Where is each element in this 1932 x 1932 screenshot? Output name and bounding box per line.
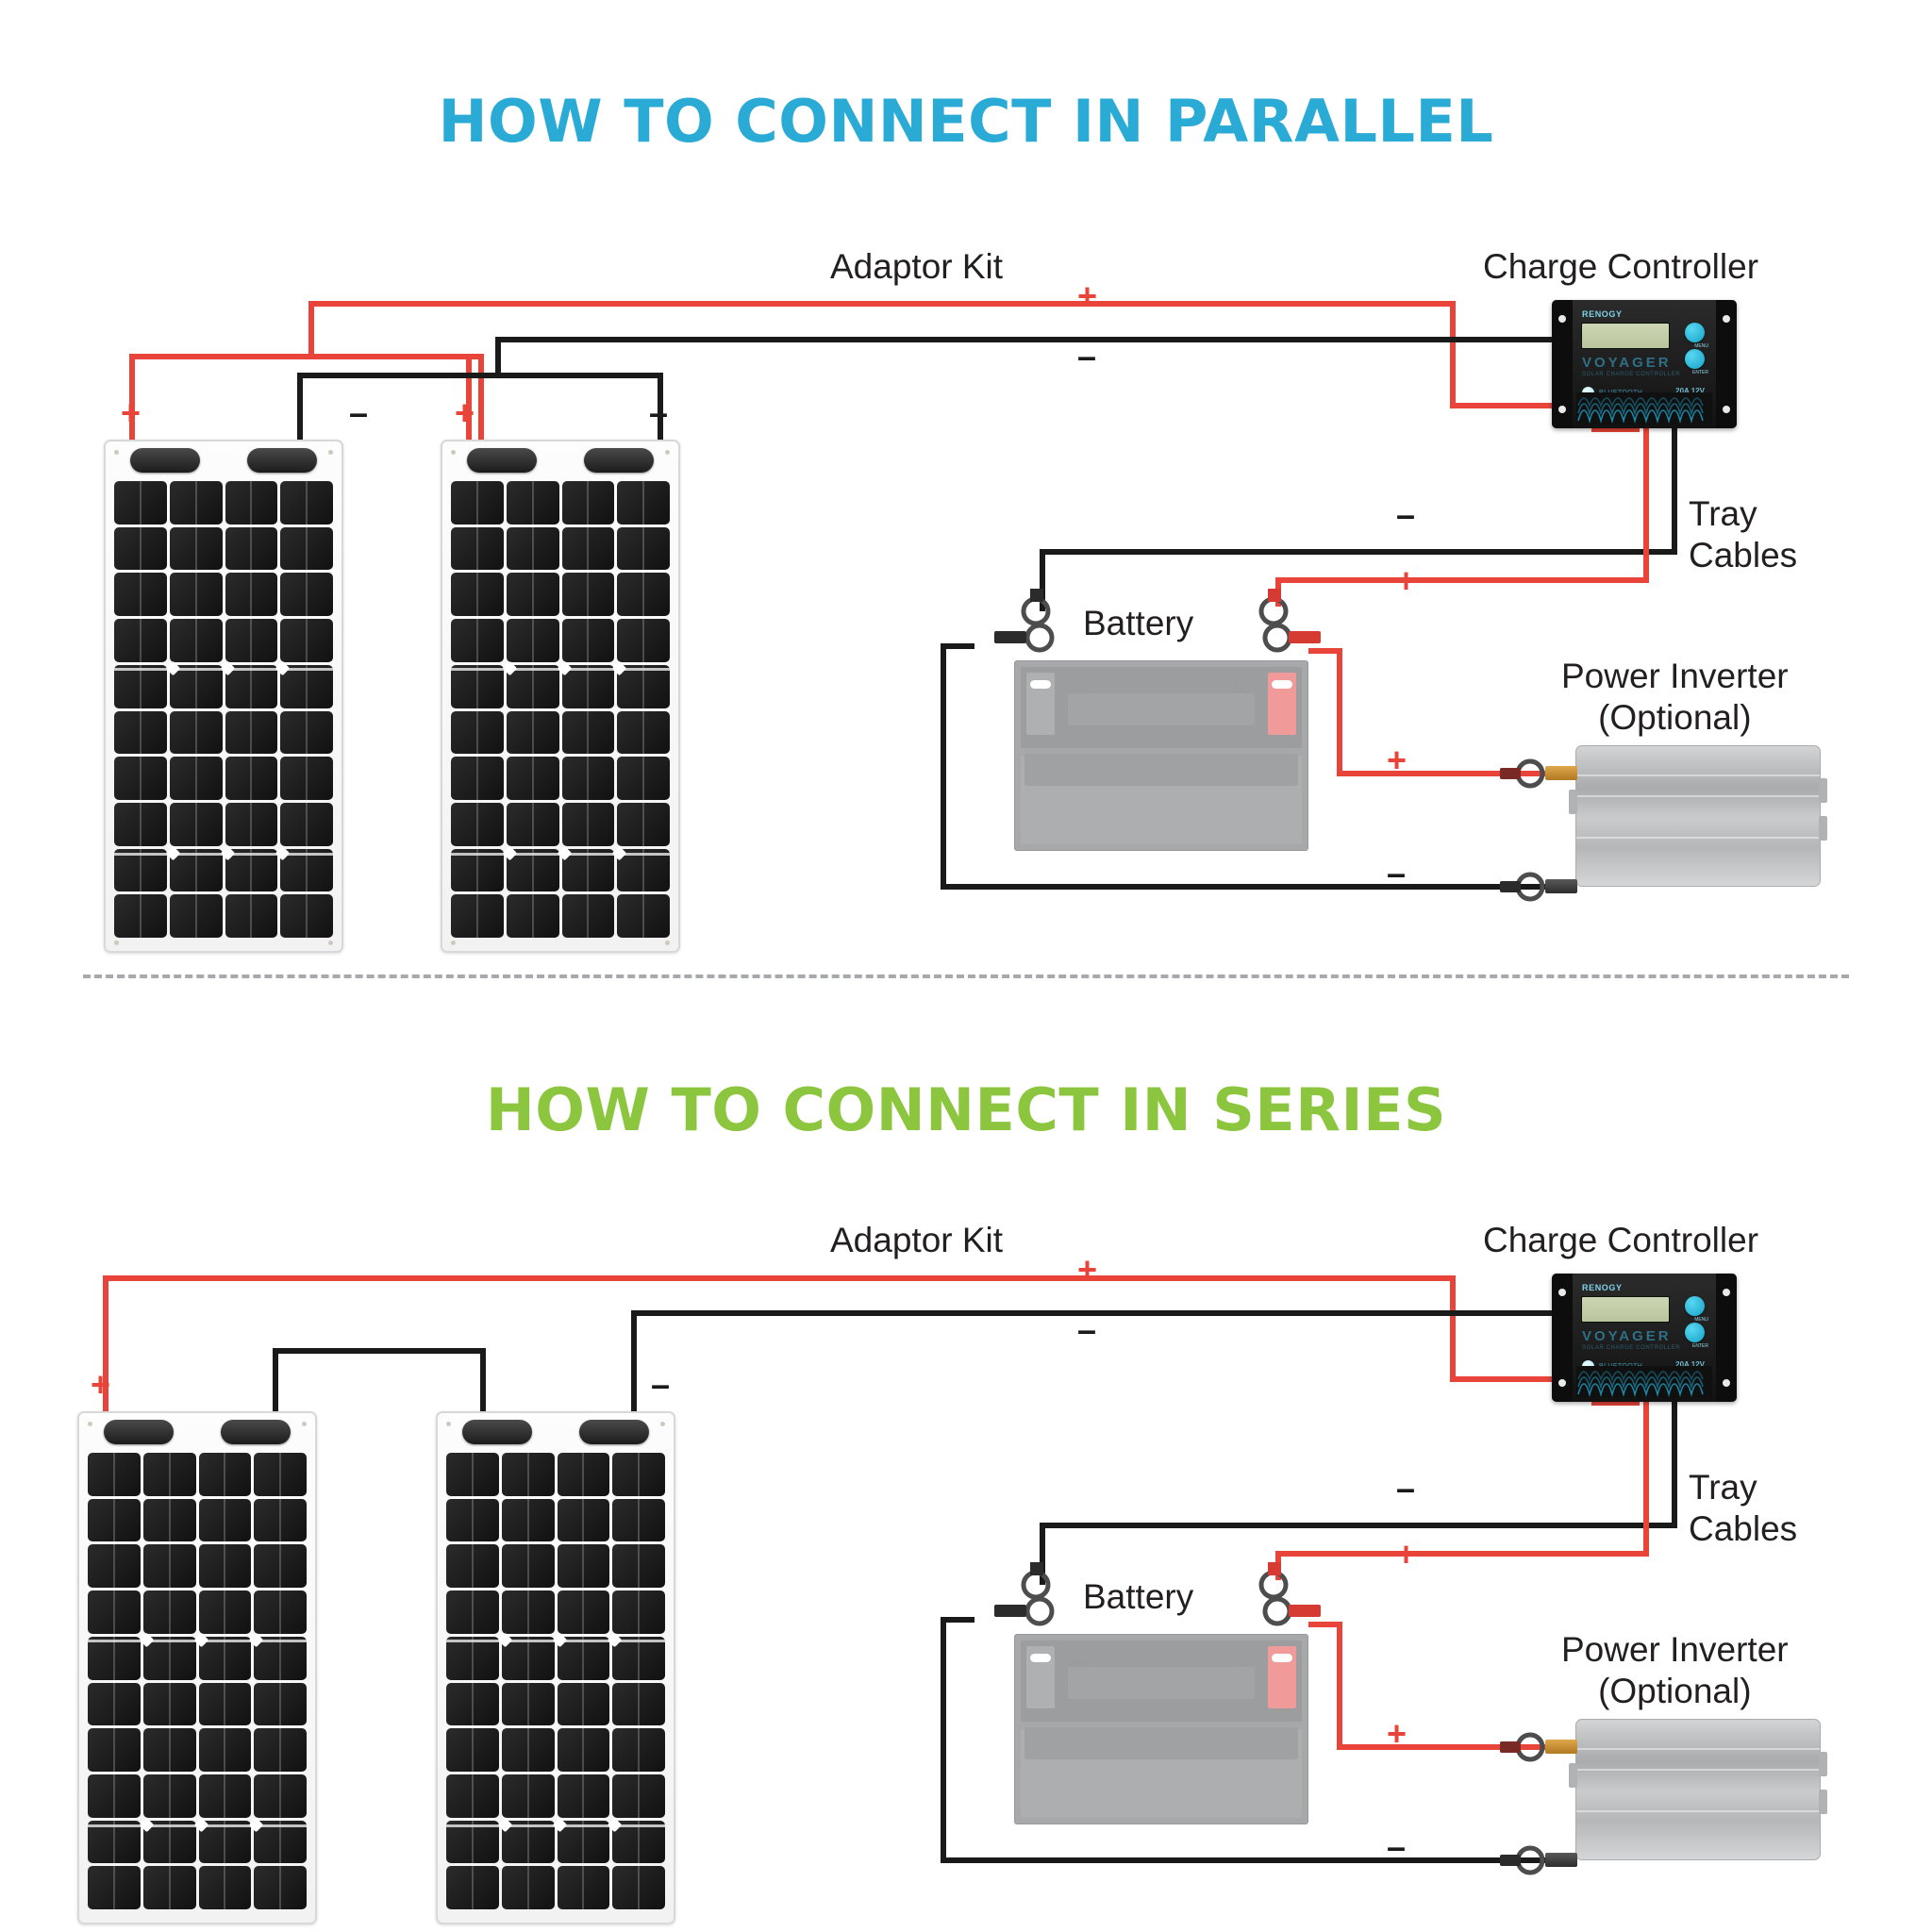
junction-box-positive: [104, 1420, 174, 1444]
parallel-adaptor-kit-label: Adaptor Kit: [830, 247, 1003, 288]
series-tray-cables-line2: Cables: [1689, 1509, 1797, 1548]
mounting-ear-left: [1552, 1274, 1573, 1402]
frame-screw: [451, 450, 456, 455]
section-divider: [83, 974, 1849, 978]
inverter-side-tab: [1819, 1790, 1827, 1814]
parallel-tray-negative: [1042, 429, 1674, 608]
controller-enter-button-label: ENTER: [1692, 1343, 1708, 1349]
series-tray-negative-sign: –: [1396, 1472, 1415, 1506]
parallel-adaptor-negative-sign: –: [1077, 340, 1096, 374]
parallel-negative-wires: [300, 340, 1656, 443]
parallel-tray-cables-line2: Cables: [1689, 536, 1797, 575]
series-charge-controller[interactable]: RENOGY VOYAGER SOLAR CHARGE CONTROLLER M…: [1552, 1274, 1737, 1402]
frame-screw: [114, 941, 119, 945]
parallel-power-inverter[interactable]: [1575, 745, 1821, 887]
parallel-solar-panel-right[interactable]: [441, 440, 680, 953]
mounting-ear-left: [1552, 300, 1573, 428]
mounting-ear-right: [1716, 300, 1737, 428]
controller-heatsink: [1576, 392, 1712, 425]
solar-cell-grid: [451, 481, 670, 938]
solar-cell-grid: [88, 1453, 307, 1909]
inverter-side-tab: [1819, 778, 1827, 803]
series-inverter-positive-sign: +: [1387, 1717, 1407, 1751]
series-adaptor-negative-sign: –: [1077, 1313, 1096, 1347]
junction-box-negative: [579, 1420, 649, 1444]
junction-box-negative: [247, 448, 317, 473]
parallel-tray-negative-sign: –: [1396, 498, 1415, 532]
series-tray-negative: [1042, 1403, 1674, 1582]
parallel-inverter-negative-sign: –: [1387, 857, 1406, 891]
junction-box-negative: [584, 448, 654, 473]
series-link-and-negative: [275, 1313, 1656, 1415]
series-tray-cables-label: Tray Cables: [1689, 1467, 1797, 1551]
series-solar-panel-right[interactable]: [436, 1411, 675, 1924]
parallel-tray-cables-label: Tray Cables: [1689, 493, 1797, 577]
frame-screw: [451, 941, 456, 945]
controller-menu-button-label: MENU: [1694, 1317, 1708, 1323]
series-inverter-negative-sign: –: [1387, 1830, 1406, 1864]
junction-box-positive: [467, 448, 537, 473]
parallel-battery-negative-lug: [981, 585, 1094, 670]
series-power-inverter-label: Power Inverter (Optional): [1561, 1629, 1789, 1713]
series-tray-cables-line1: Tray: [1689, 1468, 1757, 1507]
diagram-canvas: HOW TO CONNECT IN PARALLEL HOW TO CONNEC…: [0, 0, 1932, 1932]
parallel-panel-right-positive-sign: +: [455, 396, 475, 430]
series-panel-left-positive-sign: +: [91, 1368, 110, 1402]
series-battery-label: Battery: [1083, 1577, 1193, 1618]
frame-screw: [328, 941, 333, 945]
frame-screw: [665, 450, 670, 455]
series-battery-positive-lug: [1226, 1558, 1349, 1643]
controller-menu-button-label: MENU: [1694, 343, 1708, 349]
controller-menu-button[interactable]: [1685, 1296, 1705, 1316]
parallel-charge-controller-label: Charge Controller: [1483, 247, 1758, 288]
junction-box-negative: [221, 1420, 291, 1444]
frame-screw: [660, 1422, 665, 1426]
frame-screw: [114, 450, 119, 455]
inverter-side-tab: [1819, 816, 1827, 841]
battery-positive-cap: [1268, 673, 1296, 735]
solar-cell-grid: [446, 1453, 665, 1909]
controller-enter-button[interactable]: [1685, 349, 1705, 369]
junction-box-positive: [130, 448, 200, 473]
parallel-battery-positive-lug: [1226, 585, 1349, 670]
series-power-inverter-line2: (Optional): [1598, 1672, 1751, 1710]
series-solar-panel-left[interactable]: [77, 1411, 317, 1924]
inverter-side-tab: [1569, 1763, 1577, 1788]
controller-enter-button-label: ENTER: [1692, 370, 1708, 375]
controller-menu-button[interactable]: [1685, 323, 1705, 342]
battery-negative-cap: [1026, 673, 1055, 735]
parallel-charge-controller[interactable]: RENOGY VOYAGER SOLAR CHARGE CONTROLLER M…: [1552, 300, 1737, 428]
parallel-panel-left-negative-sign: –: [349, 396, 368, 430]
controller-brand: RENOGY: [1582, 309, 1623, 319]
battery-positive-cap: [1268, 1646, 1296, 1708]
parallel-power-inverter-line1: Power Inverter: [1561, 657, 1789, 695]
controller-model: VOYAGER: [1582, 1328, 1672, 1344]
controller-brand: RENOGY: [1582, 1283, 1623, 1292]
parallel-section-title: HOW TO CONNECT IN PARALLEL: [0, 87, 1932, 156]
parallel-inverter-positive-lug: [1498, 755, 1555, 796]
series-adaptor-positive-sign: +: [1077, 1253, 1097, 1287]
mounting-ear-right: [1716, 1274, 1737, 1402]
frame-screw: [446, 1422, 451, 1426]
parallel-power-inverter-line2: (Optional): [1598, 698, 1751, 737]
series-panel-right-negative-sign: –: [651, 1368, 670, 1402]
parallel-tray-cables-line1: Tray: [1689, 494, 1757, 533]
controller-lcd-screen: [1581, 323, 1670, 349]
parallel-panel-right-negative-sign: –: [649, 396, 668, 430]
series-charge-controller-label: Charge Controller: [1483, 1221, 1758, 1261]
parallel-adaptor-positive-sign: +: [1077, 279, 1097, 313]
series-inverter-positive-lug: [1498, 1728, 1555, 1770]
series-adaptor-kit-label: Adaptor Kit: [830, 1221, 1003, 1261]
parallel-battery-label: Battery: [1083, 604, 1193, 644]
series-tray-positive-sign: +: [1396, 1538, 1416, 1572]
frame-screw: [302, 1422, 307, 1426]
series-power-inverter[interactable]: [1575, 1719, 1821, 1860]
battery-negative-cap: [1026, 1646, 1055, 1708]
controller-lcd-screen: [1581, 1296, 1670, 1323]
controller-subtitle: SOLAR CHARGE CONTROLLER: [1582, 372, 1680, 377]
parallel-tray-positive-sign: +: [1396, 564, 1416, 598]
controller-model: VOYAGER: [1582, 355, 1672, 371]
frame-screw: [88, 1422, 92, 1426]
inverter-side-tab: [1819, 1752, 1827, 1776]
parallel-battery[interactable]: [1014, 660, 1308, 851]
controller-enter-button[interactable]: [1685, 1323, 1705, 1342]
series-inverter-negative-lug: [1498, 1841, 1555, 1883]
series-power-inverter-line1: Power Inverter: [1561, 1630, 1789, 1669]
frame-screw: [328, 450, 333, 455]
series-section-title: HOW TO CONNECT IN SERIES: [0, 1075, 1932, 1144]
solar-cell-grid: [114, 481, 333, 938]
series-battery[interactable]: [1014, 1634, 1308, 1824]
parallel-panel-left-positive-sign: +: [121, 396, 141, 430]
frame-screw: [665, 941, 670, 945]
series-positive-wires: [106, 1278, 1637, 1415]
parallel-inverter-negative-lug: [1498, 868, 1555, 909]
controller-heatsink: [1576, 1366, 1712, 1398]
parallel-inverter-positive-sign: +: [1387, 743, 1407, 777]
series-tray-positive: [1278, 1403, 1646, 1577]
inverter-side-tab: [1569, 790, 1577, 814]
junction-box-positive: [462, 1420, 532, 1444]
parallel-power-inverter-label: Power Inverter (Optional): [1561, 656, 1789, 740]
controller-subtitle: SOLAR CHARGE CONTROLLER: [1582, 1345, 1680, 1351]
parallel-solar-panel-left[interactable]: [104, 440, 343, 953]
series-battery-negative-lug: [981, 1558, 1094, 1643]
parallel-tray-positive: [1278, 429, 1646, 604]
